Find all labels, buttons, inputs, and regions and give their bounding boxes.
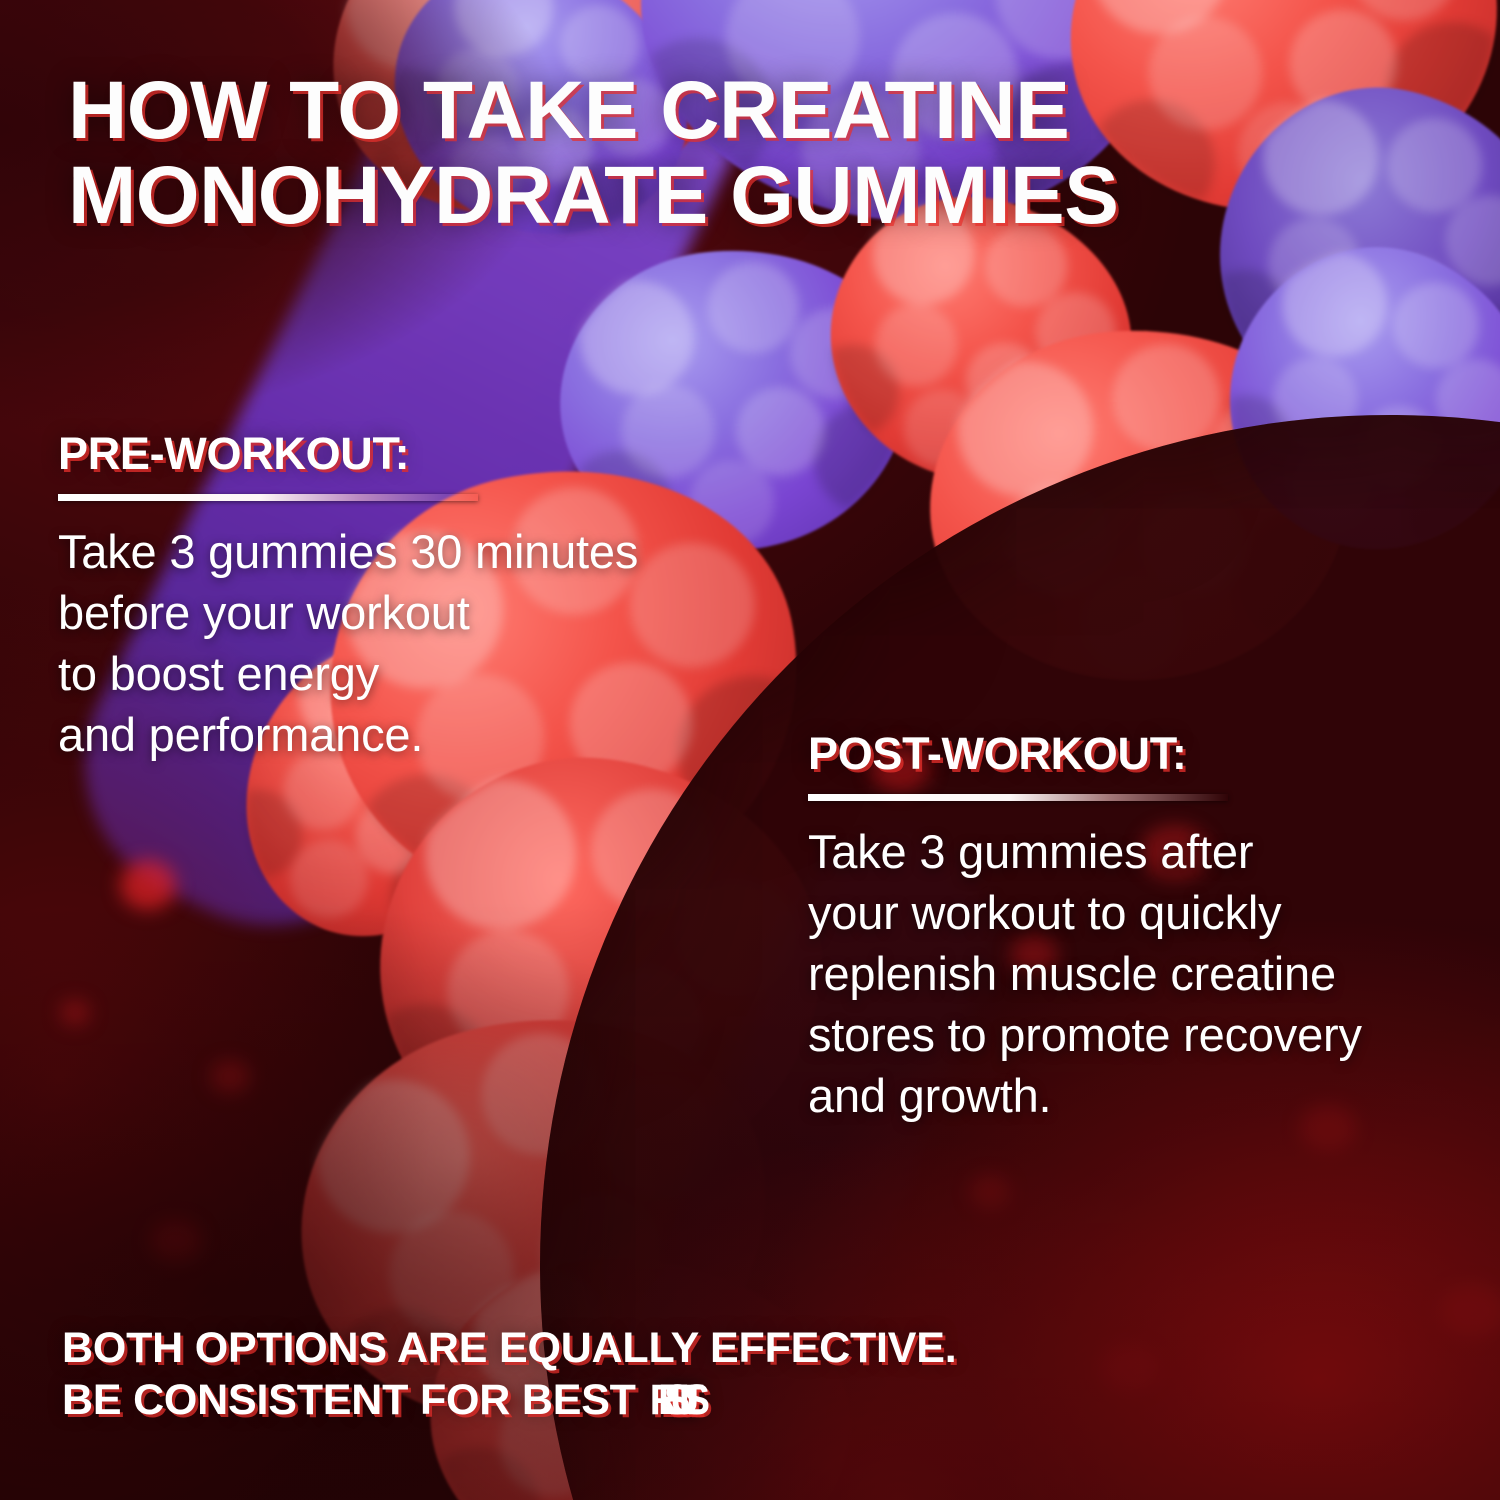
post-workout-body-line: your workout to quickly [808, 882, 1468, 943]
pre-workout-body-line: before your workout [58, 582, 758, 643]
post-workout-heading: POST-WORKOUT: [808, 728, 1468, 780]
poster-canvas: HOW TO TAKE CREATINE MONOHYDRATE GUMMIES… [0, 0, 1500, 1500]
post-workout-body-line: stores to promote recovery [808, 1004, 1468, 1065]
pre-workout-body-line: to boost energy [58, 643, 758, 704]
title-line-1: HOW TO TAKE CREATINE [68, 65, 1069, 156]
footer-glitch-word: RESULTS [649, 1374, 689, 1426]
footer-line-2-prefix: BE CONSISTENT FOR BEST [62, 1376, 648, 1424]
pre-workout-body-line: and performance. [58, 704, 758, 765]
footer-line-2: BE CONSISTENT FOR BEST RESULTS [62, 1374, 1392, 1426]
pre-workout-body: Take 3 gummies 30 minutes before your wo… [58, 521, 758, 765]
post-workout-body: Take 3 gummies after your workout to qui… [808, 821, 1468, 1126]
pre-workout-body-line: Take 3 gummies 30 minutes [58, 521, 758, 582]
title-line-2: MONOHYDRATE GUMMIES [68, 153, 1348, 238]
footer-callout: BOTH OPTIONS ARE EQUALLY EFFECTIVE. BE C… [62, 1322, 1392, 1427]
footer-line-1: BOTH OPTIONS ARE EQUALLY EFFECTIVE. [62, 1324, 957, 1372]
pre-workout-section: PRE-WORKOUT: Take 3 gummies 30 minutes b… [58, 428, 758, 765]
post-workout-body-line: and growth. [808, 1065, 1468, 1126]
pre-workout-heading: PRE-WORKOUT: [58, 428, 758, 480]
content-layer: HOW TO TAKE CREATINE MONOHYDRATE GUMMIES… [0, 0, 1500, 1500]
post-workout-body-line: replenish muscle creatine [808, 943, 1468, 1004]
post-workout-underline-rule [808, 794, 1228, 801]
page-title: HOW TO TAKE CREATINE MONOHYDRATE GUMMIES [68, 68, 1348, 239]
pre-workout-underline-rule [58, 494, 478, 501]
post-workout-section: POST-WORKOUT: Take 3 gummies after your … [808, 728, 1468, 1126]
post-workout-body-line: Take 3 gummies after [808, 821, 1468, 882]
